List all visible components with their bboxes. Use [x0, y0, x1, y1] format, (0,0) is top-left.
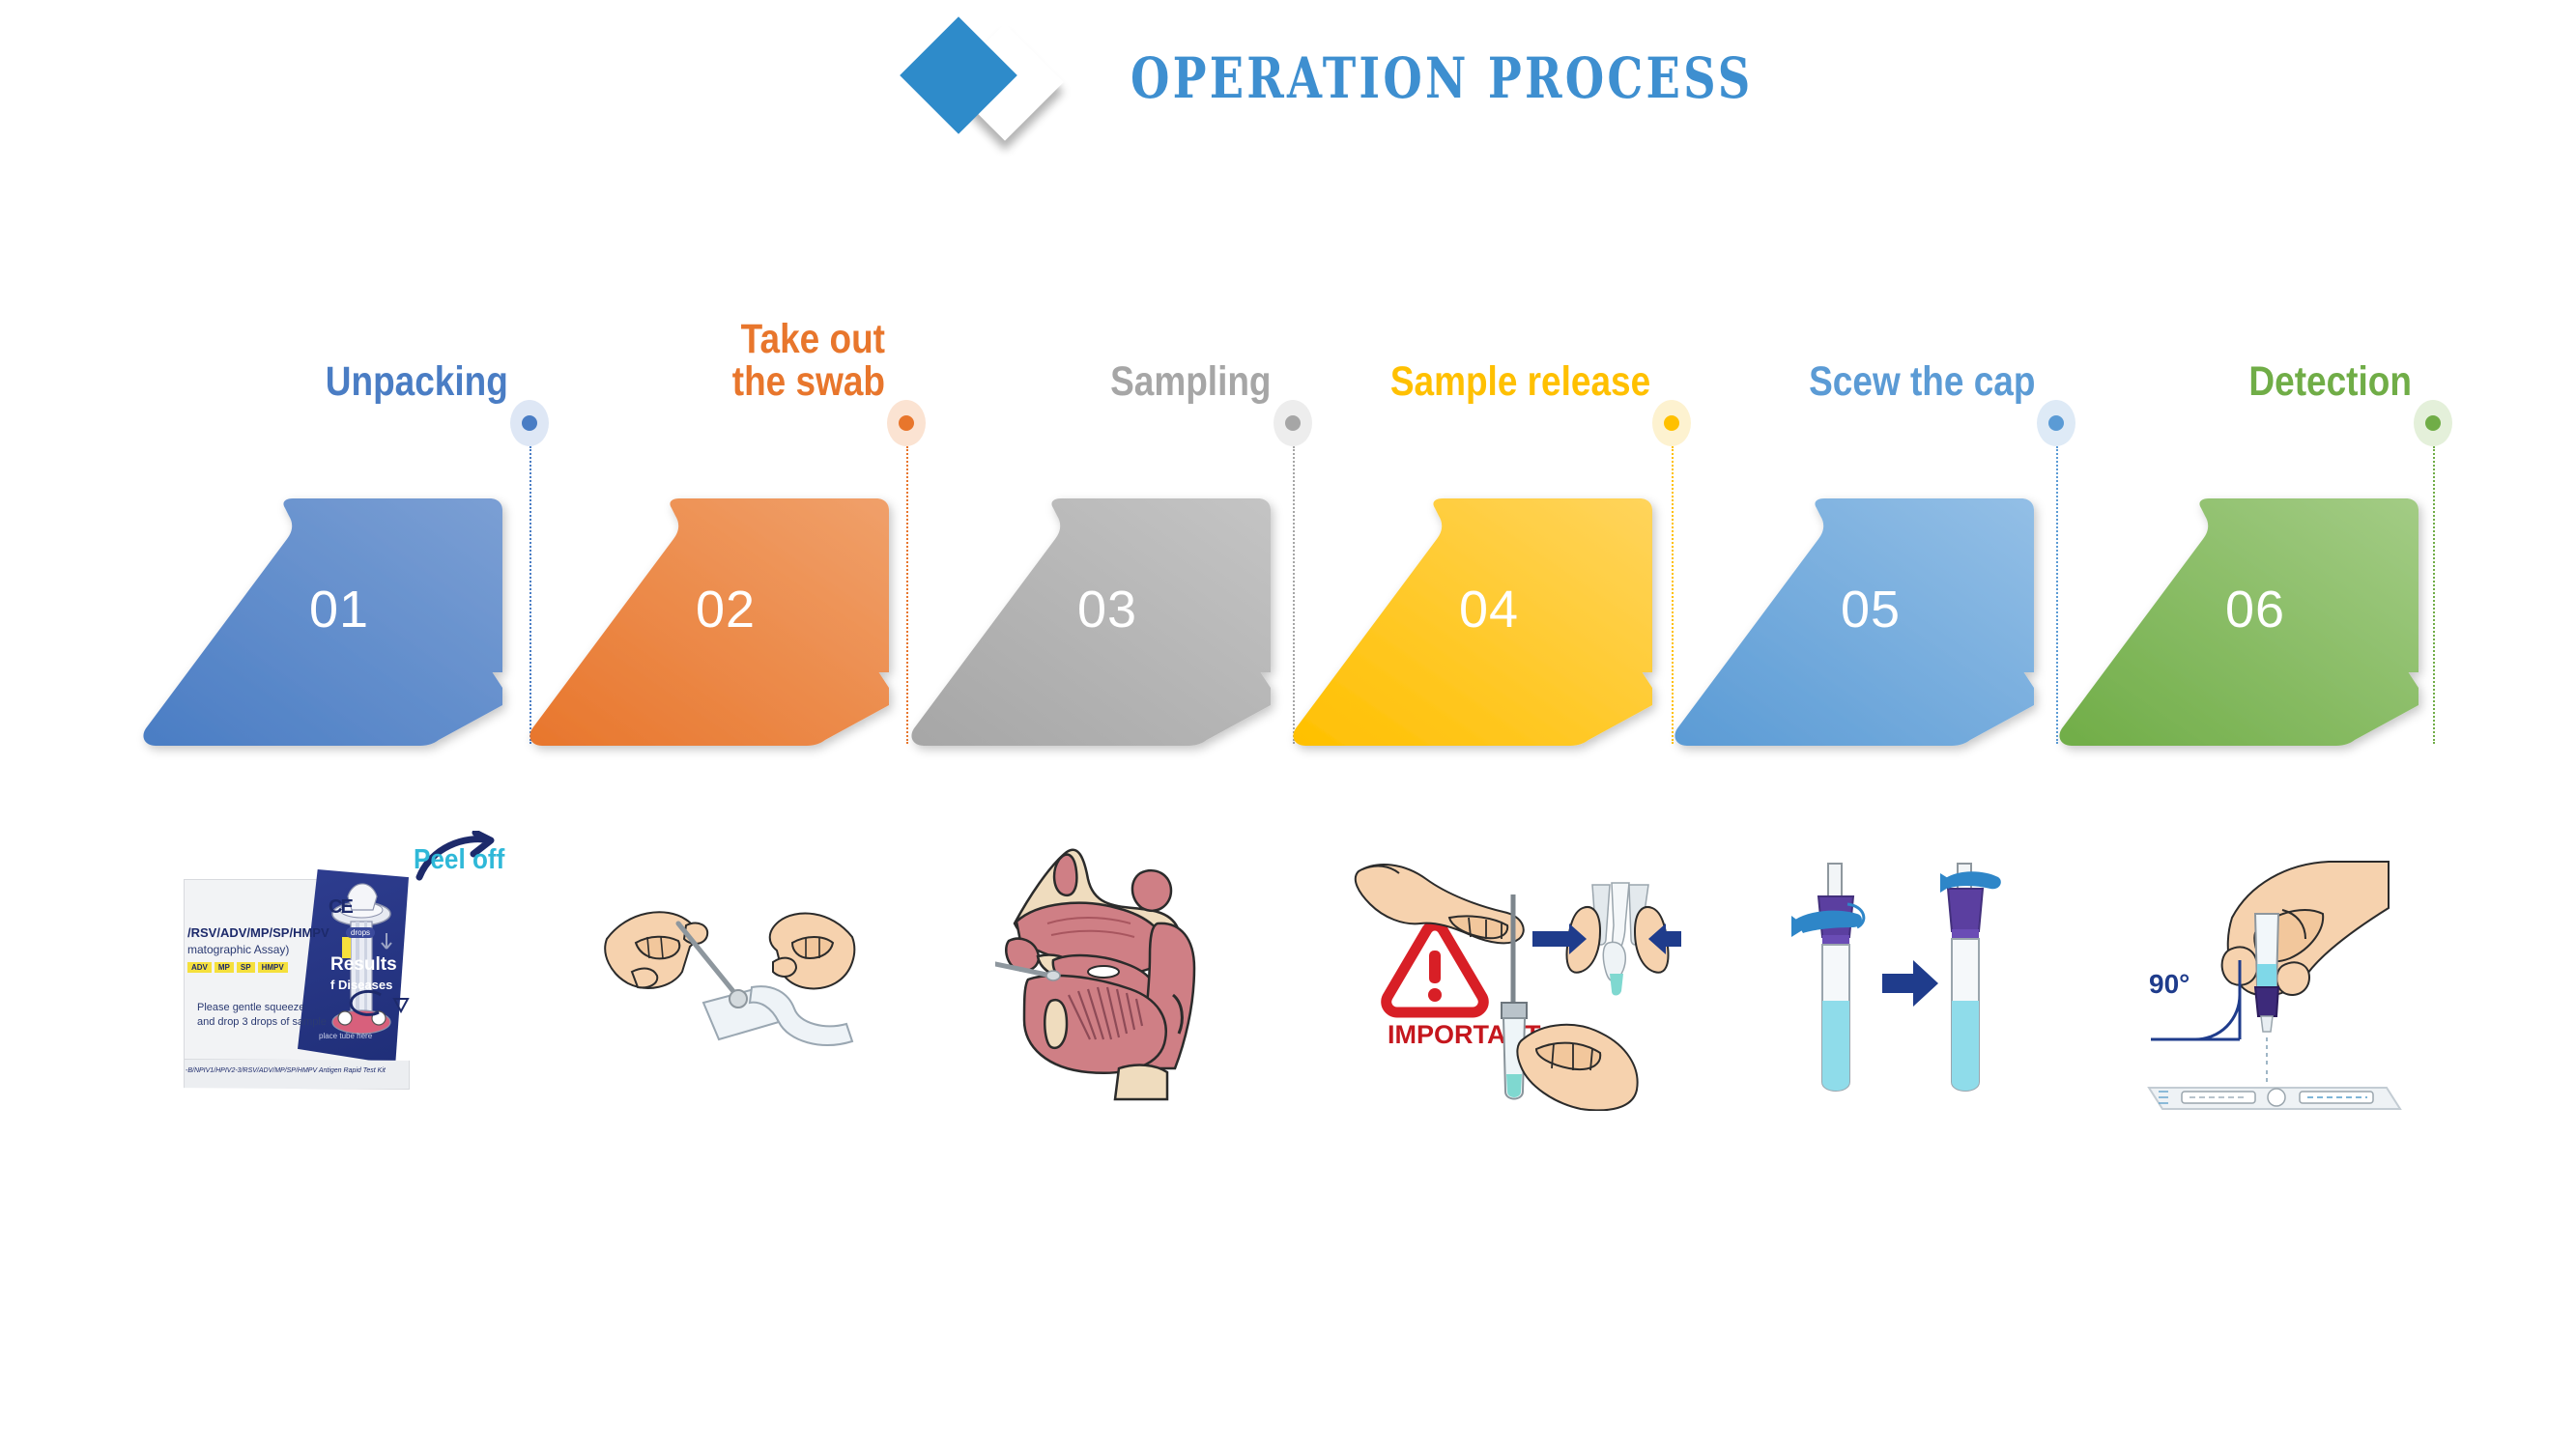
step-dot-core-05	[2048, 415, 2064, 431]
step-dot-05[interactable]	[2037, 400, 2075, 446]
page-title: OPERATION PROCESS	[1131, 45, 1753, 111]
step-label-05: Scew the cap	[1809, 361, 2035, 404]
peel-off-label: Peel off	[414, 844, 504, 876]
angle-90-text: 90°	[2149, 969, 2190, 999]
illustration-take-out-swab	[589, 879, 870, 1058]
step-arrow-04[interactable]: 04	[1290, 483, 1705, 778]
kit-instruction-text: Please gentle squeeze and drop 3 drops o…	[197, 1001, 327, 1031]
kit-drops-text: drops	[346, 927, 375, 938]
kit-ce-mark: CE	[329, 896, 352, 919]
step-arrow-02[interactable]: 02	[527, 483, 942, 778]
step-dot-02[interactable]	[887, 400, 926, 446]
kit-assay-text: matographic Assay)	[187, 943, 289, 956]
step-label-03: Sampling	[1111, 361, 1272, 404]
step-dot-core-06	[2425, 415, 2441, 431]
kit-target-tag: HMPV	[258, 962, 288, 973]
kit-diseases-text: f Diseases	[330, 978, 392, 992]
illustration-sample-release: IMPORTANT	[1333, 850, 1681, 1116]
step-dot-core-01	[522, 415, 537, 431]
kit-box-base	[184, 1059, 410, 1090]
kit-bottom-bar-text: -B/NPIV1/HPIV2-3/RSV/ADV/MP/SP/HMPV Anti…	[186, 1067, 386, 1074]
step-number-06: 06	[2225, 580, 2285, 639]
step-dot-03[interactable]	[1274, 400, 1312, 446]
kit-target-tag: SP	[237, 962, 255, 973]
illustration-sampling	[995, 840, 1217, 1106]
kit-target-tag: ADV	[187, 962, 212, 973]
step-dot-core-02	[899, 415, 914, 431]
step-number-04: 04	[1459, 580, 1519, 639]
step-dot-core-04	[1664, 415, 1679, 431]
kit-target-tags: ADVMPSPHMPV	[187, 962, 288, 973]
step-dot-01[interactable]	[510, 400, 549, 446]
step-labels-row: UnpackingTake out the swabSamplingSample…	[0, 328, 2576, 464]
step-dot-06[interactable]	[2414, 400, 2452, 446]
step-label-01: Unpacking	[326, 361, 508, 404]
step-number-05: 05	[1841, 580, 1901, 639]
step-arrows-row: 010203040506	[0, 483, 2576, 773]
kit-panel-text: /RSV/ADV/MP/SP/HMPV	[187, 925, 329, 940]
test-kit-box: CE /RSV/ADV/MP/SP/HMPV matographic Assay…	[184, 869, 473, 1092]
step-label-06: Detection	[2249, 361, 2412, 404]
kit-results-text: Results	[330, 954, 397, 976]
illustration-screw-cap	[1778, 860, 2019, 1116]
step-dot-core-03	[1285, 415, 1301, 431]
step-dot-04[interactable]	[1652, 400, 1691, 446]
sample-release-icon: IMPORTANT	[1333, 850, 1681, 1111]
slide-header: OPERATION PROCESS	[0, 0, 2576, 174]
nasal-cavity-anatomy-icon	[995, 840, 1217, 1101]
kit-place-tube-text: place tube here	[319, 1032, 372, 1040]
slide-canvas: OPERATION PROCESS UnpackingTake out the …	[0, 0, 2576, 1448]
hands-swab-package-icon	[589, 879, 870, 1053]
diamond-logo-icon	[903, 21, 1068, 142]
step-number-02: 02	[696, 580, 756, 639]
drop-sample-cassette-icon: 90°	[2135, 850, 2425, 1111]
step-label-02: Take out the swab	[732, 319, 885, 404]
step-illustrations-row: CE /RSV/ADV/MP/SP/HMPV matographic Assay…	[0, 831, 2576, 1140]
step-label-04: Sample release	[1390, 361, 1650, 404]
step-arrow-03[interactable]: 03	[908, 483, 1324, 778]
screw-tube-cap-icon	[1778, 860, 2019, 1111]
step-number-03: 03	[1077, 580, 1137, 639]
step-arrow-05[interactable]: 05	[1672, 483, 2087, 778]
step-number-01: 01	[309, 580, 369, 639]
illustration-detection: 90°	[2135, 850, 2425, 1116]
step-arrow-01[interactable]: 01	[140, 483, 556, 778]
kit-target-tag: MP	[215, 962, 234, 973]
step-arrow-06[interactable]: 06	[2056, 483, 2472, 778]
